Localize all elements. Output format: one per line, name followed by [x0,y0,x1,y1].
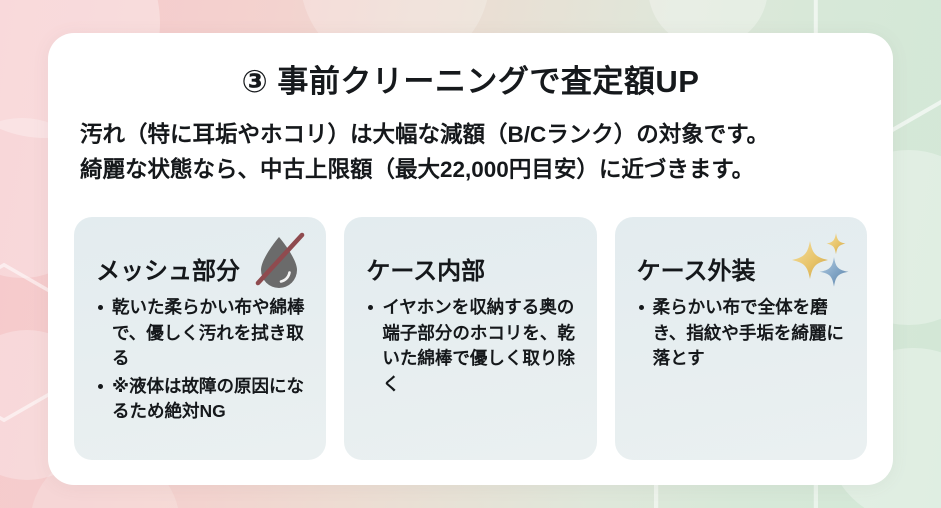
card-bullet-list: 柔らかい布で全体を磨き、指紋や手垢を綺麗に落とす [629,295,853,371]
card-row: メッシュ部分 乾いた柔らかい布や綿棒で、優しく汚れを拭き取る ※液体は故障の原因… [74,217,867,460]
card-title: ケース外装 [637,259,853,285]
subtitle: 汚れ（特に耳垢やホコリ）は大幅な減額（B/Cランク）の対象です。 綺麗な状態なら… [48,100,893,188]
list-item: イヤホンを収納する奥の端子部分のホコリを、乾いた綿棒で優しく取り除く [366,295,580,397]
card-title: メッシュ部分 [96,259,312,285]
subtitle-line-2: 綺麗な状態なら、中古上限額（最大22,000円目安）に近づきます。 [80,153,861,188]
card-case-exterior[interactable]: ケース外装 柔らかい布で全体を磨き、指紋や手垢を綺麗に落とす [615,217,867,460]
list-item: ※液体は故障の原因になるため絶対NG [96,374,310,425]
list-item: 乾いた柔らかい布や綿棒で、優しく汚れを拭き取る [96,295,310,371]
list-item: 柔らかい布で全体を磨き、指紋や手垢を綺麗に落とす [637,295,851,371]
card-bullet-list: イヤホンを収納する奥の端子部分のホコリを、乾いた綿棒で優しく取り除く [358,295,582,397]
slide-canvas: ③ 事前クリーニングで査定額UP 汚れ（特に耳垢やホコリ）は大幅な減額（B/Cラ… [0,0,941,508]
page-title: ③ 事前クリーニングで査定額UP [48,33,893,100]
card-bullet-list: 乾いた柔らかい布や綿棒で、優しく汚れを拭き取る ※液体は故障の原因になるため絶対… [88,295,312,424]
subtitle-line-1: 汚れ（特に耳垢やホコリ）は大幅な減額（B/Cランク）の対象です。 [80,118,861,153]
card-case-interior[interactable]: ケース内部 イヤホンを収納する奥の端子部分のホコリを、乾いた綿棒で優しく取り除く [344,217,596,460]
content-panel: ③ 事前クリーニングで査定額UP 汚れ（特に耳垢やホコリ）は大幅な減額（B/Cラ… [48,33,893,485]
card-title: ケース内部 [366,259,582,285]
card-mesh-section[interactable]: メッシュ部分 乾いた柔らかい布や綿棒で、優しく汚れを拭き取る ※液体は故障の原因… [74,217,326,460]
